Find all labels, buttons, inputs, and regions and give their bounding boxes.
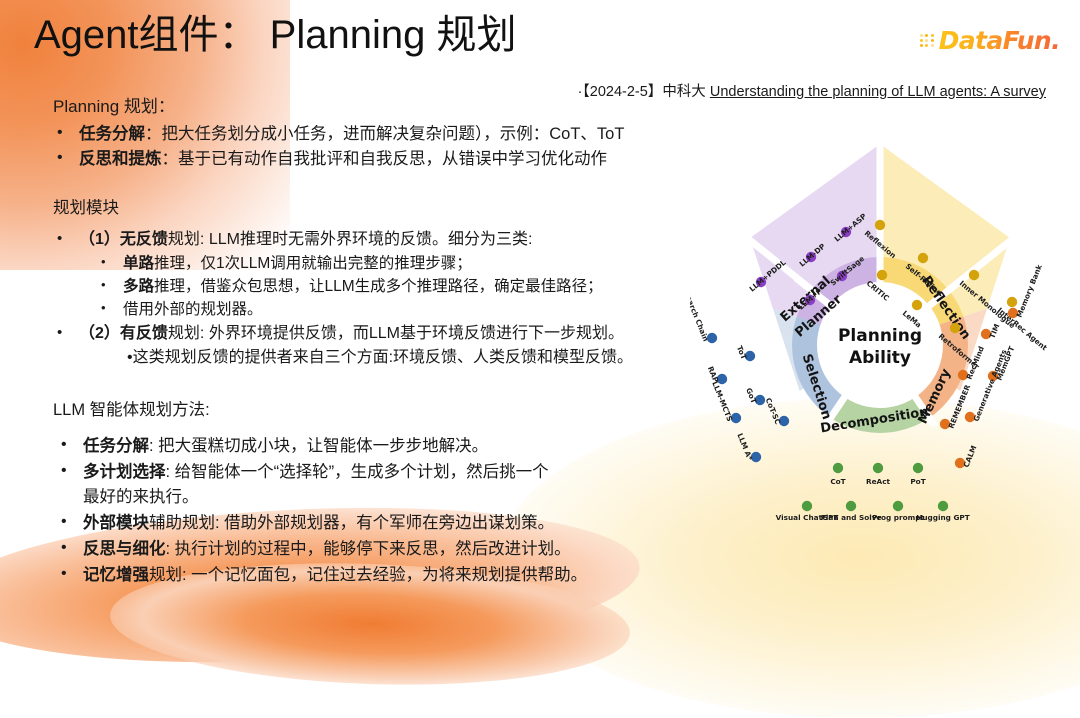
node-label-llm-mcts: LLM-MCTS — [710, 380, 734, 423]
lead-bullet-list: 任务分解：把大任务划分成小任务，进而解决复杂问题），示例：CoT、ToT 反思和… — [53, 122, 753, 172]
method-bold-2: 外部模块 — [83, 514, 149, 532]
sub-bullet-list: 单路推理，仅1次LLM调用就输出完整的推理步骤； 多路推理，借鉴众包思想，让LL… — [53, 252, 753, 322]
bullet-rest-1: ：基于已有动作自我批评和自我反思，从错误中学习优化动作 — [162, 150, 608, 168]
page-title: Agent组件： Planning 规划 — [34, 2, 516, 60]
node-dot — [1007, 297, 1017, 307]
item2-bold: 有反馈 — [120, 325, 168, 342]
node-dot — [950, 323, 960, 333]
list-item: 多路推理，借鉴众包思想，让LLM生成多个推理路径，确定最佳路径； — [53, 275, 753, 298]
node-label-search-chain: Search Chain — [690, 289, 710, 342]
method-bold-4: 记忆增强 — [83, 566, 149, 584]
node-dot — [918, 253, 928, 263]
method-bold-0: 任务分解 — [83, 437, 149, 455]
item1-prefix: （1） — [79, 231, 120, 248]
item1-rest: 规划: LLM推理时无需外界环境的反馈。细分为三类: — [168, 231, 532, 248]
node-label-tim: TIM — [988, 322, 1002, 339]
bullet-rest-0: ：把大任务划分成小任务，进而解决复杂问题），示例：CoT、ToT — [145, 125, 624, 143]
nodes-decomposition: CoT ReAct PoT Visual ChatGPT Plan and So… — [776, 463, 970, 522]
node-label-pot: PoT — [910, 477, 925, 486]
bullet-bold-1: 反思和提炼 — [79, 150, 162, 168]
node-dot — [969, 270, 979, 280]
method-bold-3: 反思与细化 — [83, 540, 166, 558]
node-dot — [802, 501, 812, 511]
node-dot — [873, 463, 883, 473]
node-dot — [893, 501, 903, 511]
node-label-calm: CALM — [962, 444, 979, 469]
node-label-hugging-gpt: Hugging GPT — [916, 513, 970, 522]
numbered-item-2: （2）有反馈规划: 外界环境提供反馈，而LLM基于环境反馈进行下一步规划。 — [53, 322, 753, 346]
node-dot — [846, 501, 856, 511]
node-label-cot-sc: CoT-SC — [764, 396, 783, 425]
sub-rest-1: 推理，借鉴众包思想，让LLM生成多个推理路径，确定最佳路径； — [154, 278, 603, 295]
node-dot — [833, 463, 843, 473]
list-item: 任务分解：把大任务划分成小任务，进而解决复杂问题），示例：CoT、ToT — [53, 122, 753, 147]
sub-bold-1: 多路 — [123, 278, 154, 295]
method-bold-1: 多计划选择 — [83, 463, 166, 481]
citation-paper-link[interactable]: Understanding the planning of LLM agents… — [710, 84, 1046, 100]
node-dot — [913, 463, 923, 473]
sub-rest-0: 推理，仅1次LLM调用就输出完整的推理步骤； — [154, 255, 472, 272]
item2-note: •这类规划反馈的提供者来自三个方面:环境反馈、人类反馈和模型反馈。 — [53, 346, 753, 370]
numbered-item-1: （1）无反馈规划: LLM推理时无需外界环境的反馈。细分为三类: — [53, 228, 753, 252]
sub-bold-0: 单路 — [123, 255, 154, 272]
node-label-cot: CoT — [830, 477, 845, 486]
method-continuation: 最好的来执行。 — [83, 485, 753, 511]
item2-prefix: （2） — [79, 325, 120, 342]
slide-body: Planning 规划： 任务分解：把大任务划分成小任务，进而解决复杂问题），示… — [53, 95, 753, 588]
bullet-bold-0: 任务分解 — [79, 125, 145, 143]
section-heading-modules: 规划模块 — [53, 194, 753, 218]
list-item: 借用外部的规划器。 — [53, 298, 753, 321]
list-item: 记忆增强规划: 一个记忆面包，记住过去经验，为将来规划提供帮助。 — [53, 563, 753, 589]
method-rest-2: 辅助规划: 借助外部规划器，有个军师在旁边出谋划策。 — [149, 514, 554, 532]
node-label-react: ReAct — [866, 477, 891, 486]
list-item: 单路推理，仅1次LLM调用就输出完整的推理步骤； — [53, 252, 753, 275]
method-rest-1: : 给智能体一个“选择轮”，生成多个计划，然后挑一个 — [166, 463, 549, 481]
logo-dots-icon — [920, 34, 935, 47]
node-dot — [912, 300, 922, 310]
list-item: 任务分解: 把大蛋糕切成小块，让智能体一步步地解决。 — [53, 434, 753, 460]
list-item: 多计划选择: 给智能体一个“选择轮”，生成多个计划，然后挑一个 最好的来执行。 — [53, 460, 753, 511]
method-rest-4: 规划: 一个记忆面包，记住过去经验，为将来规划提供帮助。 — [149, 566, 587, 584]
list-item: 反思与细化: 执行计划的过程中，能够停下来反思，然后改进计划。 — [53, 537, 753, 563]
method-bullet-list: 任务分解: 把大蛋糕切成小块，让智能体一步步地解决。 多计划选择: 给智能体一个… — [53, 434, 753, 588]
datafun-logo: DataFun. — [920, 26, 1060, 55]
method-rest-3: : 执行计划的过程中，能够停下来反思，然后改进计划。 — [166, 540, 571, 558]
planning-ability-diagram: External Planner Reflection Memory Decom… — [690, 130, 1070, 550]
logo-text: DataFun. — [939, 26, 1060, 55]
node-dot — [875, 220, 885, 230]
item1-bold: 无反馈 — [120, 231, 168, 248]
nodes-selection: Search Chain RAP ToT GoT LLM-MCTS CoT-SC… — [690, 289, 789, 462]
node-label-got: GoT — [744, 387, 758, 405]
sub-rest-2: 借用外部的规划器。 — [123, 301, 263, 318]
section-heading-methods: LLM 智能体规划方法: — [53, 396, 753, 420]
node-dot — [938, 501, 948, 511]
item2-rest: 规划: 外界环境提供反馈，而LLM基于环境反馈进行下一步规划。 — [168, 325, 624, 342]
node-label-llm-a-star: LLM A* — [735, 432, 754, 462]
node-label-memory-bank: Memory Bank — [1015, 263, 1044, 319]
lead-heading: Planning 规划： — [53, 95, 753, 119]
node-dot — [877, 270, 887, 280]
list-item: 外部模块辅助规划: 借助外部规划器，有个军师在旁边出谋划策。 — [53, 511, 753, 537]
list-item: 反思和提炼：基于已有动作自我批评和自我反思，从错误中学习优化动作 — [53, 147, 753, 172]
center-title-line2: Ability — [849, 348, 911, 368]
method-rest-0: : 把大蛋糕切成小块，让智能体一步步地解决。 — [149, 437, 488, 455]
center-title-line1: Planning — [838, 326, 922, 346]
